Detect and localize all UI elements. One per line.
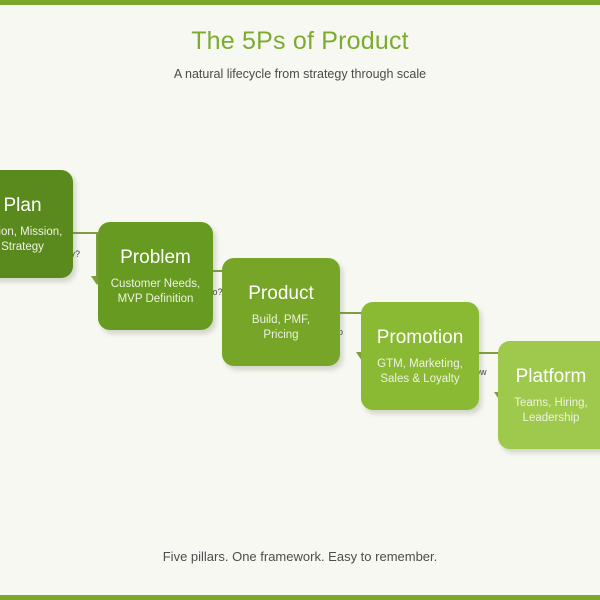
flow-node-description: GTM, Marketing, Sales & Loyalty bbox=[377, 357, 463, 387]
footer-caption: Five pillars. One framework. Easy to rem… bbox=[0, 549, 600, 564]
connector-horizontal-segment bbox=[479, 352, 500, 354]
connector-horizontal-segment bbox=[340, 312, 362, 314]
flow-node-plan[interactable]: Plan Vision, Mission, Strategy bbox=[0, 170, 73, 278]
flow-node-title: Problem bbox=[120, 246, 191, 270]
bottom-accent-bar bbox=[0, 595, 600, 600]
flow-node-title: Product bbox=[248, 282, 313, 306]
flow-node-title: Plan bbox=[3, 194, 41, 218]
header: The 5Ps of Product A natural lifecycle f… bbox=[0, 26, 600, 82]
flow-node-description: Customer Needs, MVP Definition bbox=[111, 277, 200, 307]
connector-horizontal-segment bbox=[73, 232, 97, 234]
flow-node-platform[interactable]: Platform Teams, Hiring, Leadership bbox=[498, 341, 600, 449]
page-subtitle: A natural lifecycle from strategy throug… bbox=[0, 66, 600, 82]
flow-node-title: Platform bbox=[516, 365, 587, 389]
flow-node-description: Teams, Hiring, Leadership bbox=[514, 396, 588, 426]
flow-diagram: Why? Who? Ship Grow Plan Vision, Mission… bbox=[0, 0, 600, 600]
flow-node-description: Build, PMF, Pricing bbox=[252, 313, 310, 343]
page-title: The 5Ps of Product bbox=[0, 26, 600, 56]
flow-node-description: Vision, Mission, Strategy bbox=[0, 225, 62, 255]
diagram-canvas: The 5Ps of Product A natural lifecycle f… bbox=[0, 0, 600, 600]
top-accent-bar bbox=[0, 0, 600, 5]
flow-node-title: Promotion bbox=[377, 326, 464, 350]
flow-node-problem[interactable]: Problem Customer Needs, MVP Definition bbox=[98, 222, 213, 330]
flow-node-product[interactable]: Product Build, PMF, Pricing bbox=[222, 258, 340, 366]
flow-node-promotion[interactable]: Promotion GTM, Marketing, Sales & Loyalt… bbox=[361, 302, 479, 410]
